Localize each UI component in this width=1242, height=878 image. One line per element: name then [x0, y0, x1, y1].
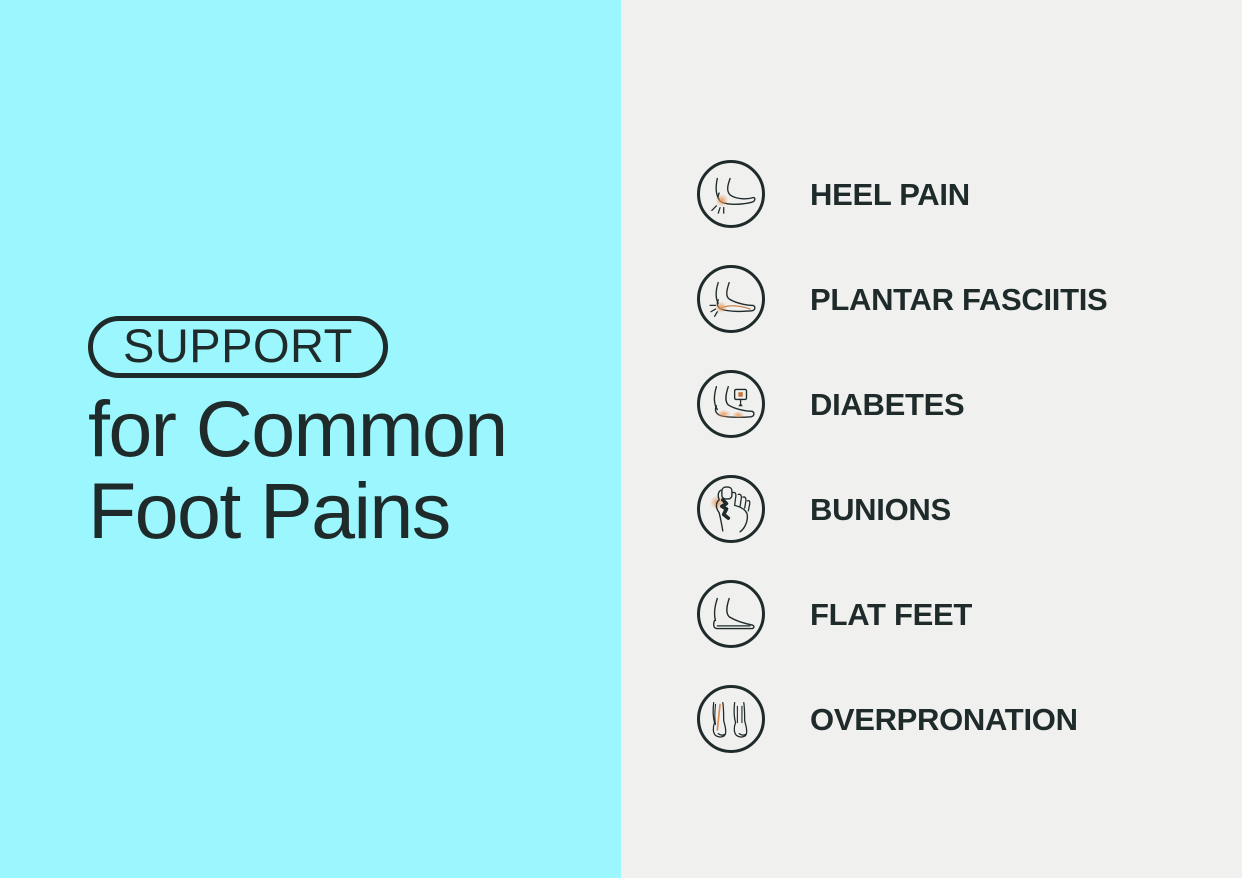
bunions-icon — [697, 475, 765, 543]
headline-block: SUPPORT for Common Foot Pains — [88, 316, 507, 550]
poster: SUPPORT for Common Foot Pains — [0, 0, 1242, 878]
list-item: BUNIONS — [697, 475, 1107, 543]
list-item-label: FLAT FEET — [810, 599, 972, 630]
list-item: OVERPRONATION — [697, 685, 1107, 753]
left-panel: SUPPORT for Common Foot Pains — [0, 0, 621, 878]
headline-line-2: Foot Pains — [88, 472, 507, 550]
heel-pain-icon — [697, 160, 765, 228]
diabetes-foot-icon — [697, 370, 765, 438]
support-badge: SUPPORT — [88, 316, 388, 378]
overpronation-icon — [697, 685, 765, 753]
list-item-label: PLANTAR FASCIITIS — [810, 284, 1107, 315]
right-panel: HEEL PAIN — [621, 0, 1242, 878]
conditions-list: HEEL PAIN — [697, 160, 1107, 753]
list-item-label: OVERPRONATION — [810, 704, 1078, 735]
plantar-fasciitis-icon — [697, 265, 765, 333]
list-item-label: DIABETES — [810, 389, 964, 420]
list-item: DIABETES — [697, 370, 1107, 438]
list-item-label: BUNIONS — [810, 494, 951, 525]
headline-line-1: for Common — [88, 390, 507, 468]
list-item: HEEL PAIN — [697, 160, 1107, 228]
support-badge-label: SUPPORT — [123, 322, 353, 369]
list-item: FLAT FEET — [697, 580, 1107, 648]
flat-feet-icon — [697, 580, 765, 648]
list-item: PLANTAR FASCIITIS — [697, 265, 1107, 333]
list-item-label: HEEL PAIN — [810, 179, 970, 210]
